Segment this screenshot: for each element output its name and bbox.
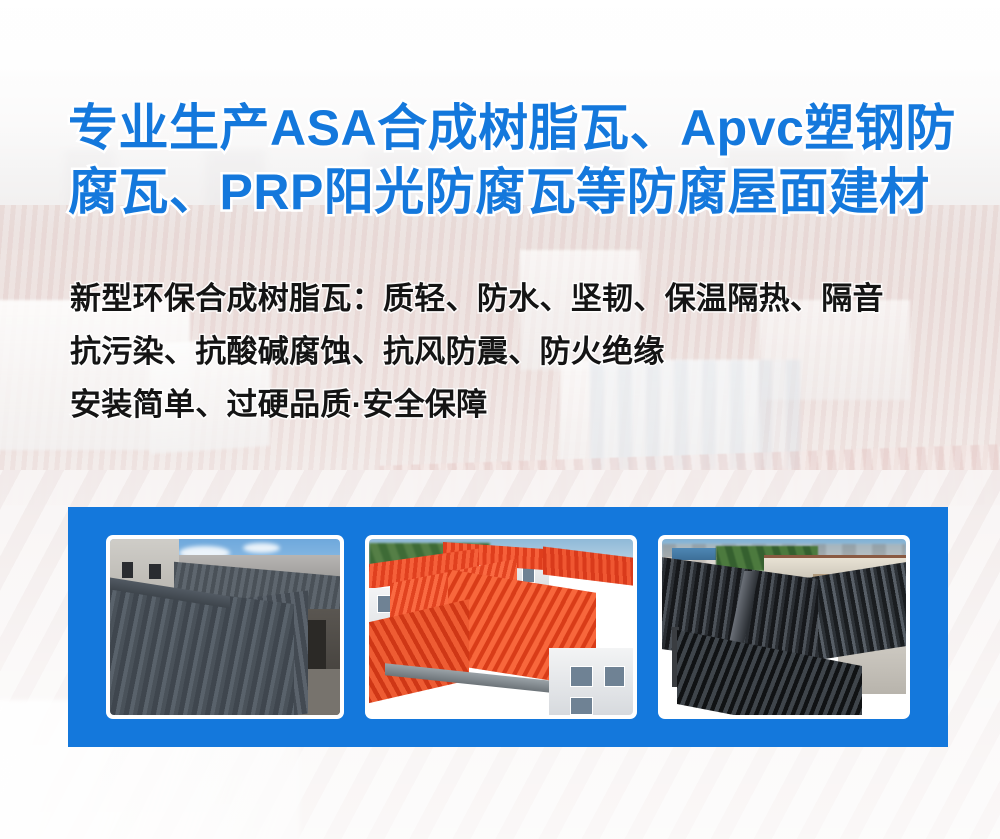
grey-resin-tile-roof-photo[interactable] <box>106 535 344 719</box>
photo1-cloud <box>243 543 280 554</box>
photo1-window <box>149 564 161 580</box>
feature-list: 新型环保合成树脂瓦：质轻、防水、坚韧、保温隔热、隔音 抗污染、抗酸碱腐蚀、抗风防… <box>70 272 970 431</box>
photo-image-1 <box>110 539 340 715</box>
photo-image-3 <box>662 539 906 715</box>
photo-image-2 <box>369 539 633 715</box>
black-resin-tile-roof-photo[interactable] <box>658 535 910 719</box>
photo3-blue-roof-building <box>672 548 716 560</box>
photo2-window <box>570 697 594 715</box>
product-promo-banner: 专业生产ASA合成树脂瓦、Apvc塑钢防 腐瓦、PRP阳光防腐瓦等防腐屋面建材 … <box>0 0 1000 839</box>
photo2-window <box>604 666 625 687</box>
headline: 专业生产ASA合成树脂瓦、Apvc塑钢防 腐瓦、PRP阳光防腐瓦等防腐屋面建材 <box>68 96 968 224</box>
headline-line-1: 专业生产ASA合成树脂瓦、Apvc塑钢防 <box>68 96 968 160</box>
photo2-window <box>570 666 594 687</box>
photo1-window <box>122 562 134 578</box>
headline-line-2: 腐瓦、PRP阳光防腐瓦等防腐屋面建材 <box>68 160 968 224</box>
feature-line-2: 抗污染、抗酸碱腐蚀、抗风防震、防火绝缘 <box>70 325 970 378</box>
red-resin-tile-roof-photo[interactable] <box>365 535 637 719</box>
feature-line-1: 新型环保合成树脂瓦：质轻、防水、坚韧、保温隔热、隔音 <box>70 272 970 325</box>
feature-line-3: 安装简单、过硬品质·安全保障 <box>70 378 970 431</box>
product-photo-gallery <box>68 507 948 747</box>
